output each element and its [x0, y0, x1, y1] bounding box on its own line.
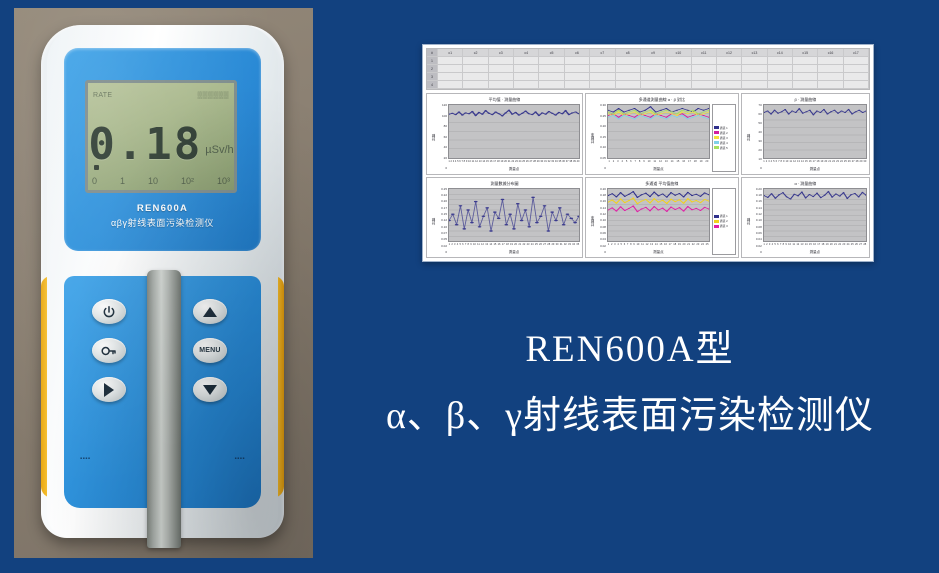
chart-yticks: 0.300.250.200.150.100.050: [595, 104, 607, 172]
table-cell: [844, 73, 869, 80]
legend-label: 通道 2: [720, 219, 728, 223]
table-cell: [539, 81, 564, 88]
chart-ylabel: 計數率: [588, 104, 595, 172]
table-cell: [641, 81, 666, 88]
chart-body: 計數率0.200.180.160.140.120.100.080.060.040…: [588, 188, 736, 256]
chart-title: α · 測量曲線: [744, 180, 867, 188]
chart-ylabel: 計數: [429, 188, 436, 256]
table-cell: [692, 65, 717, 72]
key-search-icon: [101, 345, 117, 357]
legend-label: 通道 3: [720, 224, 728, 228]
chart-plot-area: [763, 104, 867, 159]
table-cell: c8: [616, 49, 641, 56]
legend-label: 通道 4: [720, 141, 728, 145]
data-table[interactable]: #c1c2c3c4c5c6c7c8c9c10c11c12c13c14c15c16…: [426, 48, 870, 90]
triangle-up-icon: [203, 307, 217, 317]
menu-button[interactable]: MENU: [193, 338, 227, 363]
chart-title: 多通道 平均值曲線: [588, 180, 736, 188]
chart-grid: 平均值 · 測量曲線計數1201008060402001234567891011…: [426, 93, 870, 258]
chart-xticks: 1234567891011121314151617181920: [607, 159, 710, 166]
legend-swatch: [714, 136, 719, 139]
table-cell: [641, 65, 666, 72]
chart-ylabel: 計數: [744, 104, 751, 172]
table-cell: [742, 81, 767, 88]
table-cell: c12: [717, 49, 742, 56]
table-cell: [590, 65, 615, 72]
table-cell: [692, 57, 717, 64]
chart-xlabel: 測量点: [448, 249, 580, 255]
lcd-scale-tick: 0: [92, 176, 97, 186]
table-cell: [818, 57, 843, 64]
chart-ylabel: 計數率: [588, 188, 595, 256]
product-photo: RATE ▒▒▒▒▒▒ 0.18 µSv/h 0 1 10 10² 10³ RE…: [14, 8, 313, 558]
lcd-scale-tick: 10²: [181, 176, 194, 186]
up-button[interactable]: [193, 299, 227, 324]
lcd-status-left: RATE: [93, 92, 112, 99]
table-cell: c17: [844, 49, 869, 56]
chart-ylabel: 計數: [744, 188, 751, 256]
legend-swatch: [714, 141, 719, 144]
legend-item: 通道 5: [714, 145, 734, 150]
legend-label: 通道 1: [720, 214, 728, 218]
table-cell: [463, 57, 488, 64]
device-model-label: REN600A: [64, 203, 261, 214]
legend-swatch: [714, 146, 719, 149]
table-cell: [692, 81, 717, 88]
chart-xlabel: 測量点: [763, 166, 867, 172]
legend-swatch: [714, 225, 719, 228]
chart-plot-area: [448, 104, 580, 159]
table-cell: [489, 65, 514, 72]
table-cell: [717, 57, 742, 64]
table-cell: [844, 57, 869, 64]
chart-card-bottom-left: 測量數據分布圖計數0.250.220.200.170.150.120.100.0…: [426, 177, 583, 259]
chart-plot-area: [607, 104, 710, 159]
table-cell: [666, 81, 691, 88]
chart-card-bottom-right: α · 測量曲線計數0.200.180.160.140.120.100.080.…: [741, 177, 870, 259]
chart-xticks: 1234567891011121314151617181920212223242…: [763, 159, 867, 166]
table-cell: [590, 57, 615, 64]
table-cell: c6: [565, 49, 590, 56]
table-cell: [539, 73, 564, 80]
table-cell: [590, 73, 615, 80]
table-cell: [514, 73, 539, 80]
table-cell: [489, 73, 514, 80]
chart-yticks: 0.200.180.160.140.120.100.080.060.040.02…: [751, 188, 763, 256]
table-cell: [514, 57, 539, 64]
device-chinese-label: αβγ射线表面污染检测仪: [64, 216, 261, 229]
chart-plot-area: [448, 188, 580, 243]
table-cell: [438, 57, 463, 64]
table-cell: [844, 81, 869, 88]
table-cell: [666, 73, 691, 80]
headline-block: REN600A型 α、β、γ射线表面污染检测仪: [330, 318, 930, 439]
chart-xlabel: 測量点: [448, 166, 580, 172]
table-cell: #: [427, 49, 438, 56]
chart-xticks: 1234567891011121314151617181920212223242…: [763, 242, 867, 249]
table-cell: c11: [692, 49, 717, 56]
table-cell: [768, 57, 793, 64]
table-cell: [463, 73, 488, 80]
chart-xticks: 1234567891011121314151617181920212223242…: [448, 159, 580, 166]
table-row[interactable]: 1: [427, 57, 869, 65]
chart-card-top-left: 平均值 · 測量曲線計數1201008060402001234567891011…: [426, 93, 583, 175]
lcd-status-bar: RATE ▒▒▒▒▒▒: [93, 87, 229, 103]
down-button[interactable]: [193, 377, 227, 402]
table-cell: 1: [427, 57, 438, 64]
chart-card-bottom-middle: 多通道 平均值曲線計數率0.200.180.160.140.120.100.08…: [585, 177, 739, 259]
chart-xlabel: 測量点: [607, 249, 710, 255]
table-cell: [717, 81, 742, 88]
chart-ylabel: 計數: [429, 104, 436, 172]
lcd-scale-tick: 1: [120, 176, 125, 186]
chart-title: 測量數據分布圖: [429, 180, 580, 188]
table-cell: c1: [438, 49, 463, 56]
chart-body: 計數0.250.220.200.170.150.120.100.070.050.…: [429, 188, 580, 256]
chart-title: β · 測量曲線: [744, 96, 867, 104]
table-cell: [742, 57, 767, 64]
device-label: REN600A αβγ射线表面污染检测仪: [64, 203, 261, 229]
table-cell: [818, 65, 843, 72]
lcd-unit: µSv/h: [205, 144, 233, 156]
table-cell: [768, 81, 793, 88]
lcd-scale-tick: 10³: [217, 176, 230, 186]
table-cell: [844, 65, 869, 72]
chart-title: 多通道測量曲線 α · β 對比: [588, 96, 736, 104]
table-cell: c9: [641, 49, 666, 56]
table-cell: [616, 57, 641, 64]
legend-swatch: [714, 131, 719, 134]
power-icon: [102, 305, 116, 319]
headline-description: α、β、γ射线表面污染检测仪: [330, 384, 930, 439]
table-cell: [641, 73, 666, 80]
chart-body: 計數12010080604020012345678910111213141516…: [429, 104, 580, 172]
menu-text-icon: MENU: [199, 347, 220, 354]
legend-swatch: [714, 220, 719, 223]
lcd-screen: RATE ▒▒▒▒▒▒ 0.18 µSv/h 0 1 10 10² 10³: [85, 80, 237, 193]
play-button[interactable]: [92, 377, 126, 402]
table-cell: [438, 65, 463, 72]
table-cell: [539, 57, 564, 64]
table-cell: [768, 65, 793, 72]
table-cell: c15: [793, 49, 818, 56]
table-cell: c5: [539, 49, 564, 56]
chart-card-top-right: β · 測量曲線計數706050403020100123456789101112…: [741, 93, 870, 175]
device-center-strip: [147, 270, 181, 548]
table-header-row[interactable]: #c1c2c3c4c5c6c7c8c9c10c11c12c13c14c15c16…: [427, 49, 869, 57]
chart-xticks: 1234567891011121314151617181920212223242…: [607, 242, 710, 249]
table-cell: [438, 73, 463, 80]
table-cell: [717, 73, 742, 80]
legend-label: 通道 1: [720, 126, 728, 130]
table-cell: [692, 73, 717, 80]
table-cell: [565, 73, 590, 80]
table-cell: [793, 57, 818, 64]
table-cell: [463, 65, 488, 72]
lcd-bargraph-marker: [94, 165, 99, 170]
table-cell: c14: [768, 49, 793, 56]
table-cell: [539, 65, 564, 72]
chart-card-top-middle: 多通道測量曲線 α · β 對比計數率0.300.250.200.150.100…: [585, 93, 739, 175]
lcd-value: 0.18: [88, 125, 202, 165]
table-cell: 2: [427, 65, 438, 72]
table-cell: [514, 65, 539, 72]
table-cell: [742, 65, 767, 72]
chart-title: 平均值 · 測量曲線: [429, 96, 580, 104]
play-triangle-icon: [104, 383, 114, 397]
table-cell: [565, 57, 590, 64]
chart-legend: 通道 1通道 2通道 3通道 4通道 5: [712, 104, 736, 172]
table-cell: [590, 81, 615, 88]
table-cell: [565, 65, 590, 72]
table-cell: c10: [666, 49, 691, 56]
table-cell: 4: [427, 81, 438, 88]
chart-yticks: 120100806040200: [436, 104, 448, 172]
chart-yticks: 0.200.180.160.140.120.100.080.060.040.02…: [595, 188, 607, 256]
chart-plot-area: [607, 188, 710, 243]
table-cell: c4: [514, 49, 539, 56]
table-cell: [793, 81, 818, 88]
table-cell: [818, 73, 843, 80]
table-cell: c7: [590, 49, 615, 56]
table-cell: [666, 57, 691, 64]
table-cell: [565, 81, 590, 88]
table-cell: 3: [427, 73, 438, 80]
table-row[interactable]: 4: [427, 81, 869, 89]
table-row[interactable]: 3: [427, 73, 869, 81]
table-cell: c16: [818, 49, 843, 56]
chart-body: 計數0.200.180.160.140.120.100.080.060.040.…: [744, 188, 867, 256]
table-cell: [793, 65, 818, 72]
device-bottom-text-right: ▪▪▪▪: [234, 456, 245, 462]
table-cell: [616, 73, 641, 80]
legend-label: 通道 3: [720, 136, 728, 140]
chart-xlabel: 測量点: [607, 166, 710, 172]
legend-swatch: [714, 215, 719, 218]
table-cell: [463, 81, 488, 88]
chart-yticks: 0.250.220.200.170.150.120.100.070.050.02…: [436, 188, 448, 256]
headline-model: REN600A型: [330, 318, 930, 372]
lcd-status-right: ▒▒▒▒▒▒: [197, 92, 229, 99]
table-cell: [641, 57, 666, 64]
table-cell: c3: [489, 49, 514, 56]
chart-yticks: 706050403020100: [751, 104, 763, 172]
table-cell: [616, 81, 641, 88]
chart-body: 計數率0.300.250.200.150.100.050123456789101…: [588, 104, 736, 172]
table-cell: [514, 81, 539, 88]
table-cell: [666, 65, 691, 72]
chart-plot-area: [763, 188, 867, 243]
chart-xlabel: 測量点: [763, 249, 867, 255]
table-cell: [489, 57, 514, 64]
table-row[interactable]: 2: [427, 65, 869, 73]
search-button[interactable]: [92, 338, 126, 363]
chart-xticks: 1234567891011121314151617181920212223242…: [448, 242, 580, 249]
table-cell: [818, 81, 843, 88]
slide-root: RATE ▒▒▒▒▒▒ 0.18 µSv/h 0 1 10 10² 10³ RE…: [0, 0, 939, 573]
table-cell: [616, 65, 641, 72]
legend-label: 通道 2: [720, 131, 728, 135]
device-bottom-text: ▪▪▪▪ ▪▪▪▪: [64, 456, 261, 462]
table-cell: [793, 73, 818, 80]
power-button[interactable]: [92, 299, 126, 324]
device-bottom-text-left: ▪▪▪▪: [80, 456, 91, 462]
table-cell: [438, 81, 463, 88]
lcd-scale-tick: 10: [148, 176, 158, 186]
lcd-scale: 0 1 10 10² 10³: [92, 176, 230, 186]
table-cell: c13: [742, 49, 767, 56]
table-cell: c2: [463, 49, 488, 56]
software-screenshot-panel: #c1c2c3c4c5c6c7c8c9c10c11c12c13c14c15c16…: [422, 44, 874, 262]
triangle-down-icon: [203, 385, 217, 395]
legend-label: 通道 5: [720, 146, 728, 150]
legend-swatch: [714, 126, 719, 129]
table-cell: [768, 73, 793, 80]
lcd-reading: 0.18 µSv/h: [88, 107, 234, 165]
legend-item: 通道 3: [714, 224, 734, 229]
chart-body: 計數70605040302010012345678910111213141516…: [744, 104, 867, 172]
table-cell: [717, 65, 742, 72]
table-cell: [489, 81, 514, 88]
chart-legend: 通道 1通道 2通道 3: [712, 188, 736, 256]
table-cell: [742, 73, 767, 80]
